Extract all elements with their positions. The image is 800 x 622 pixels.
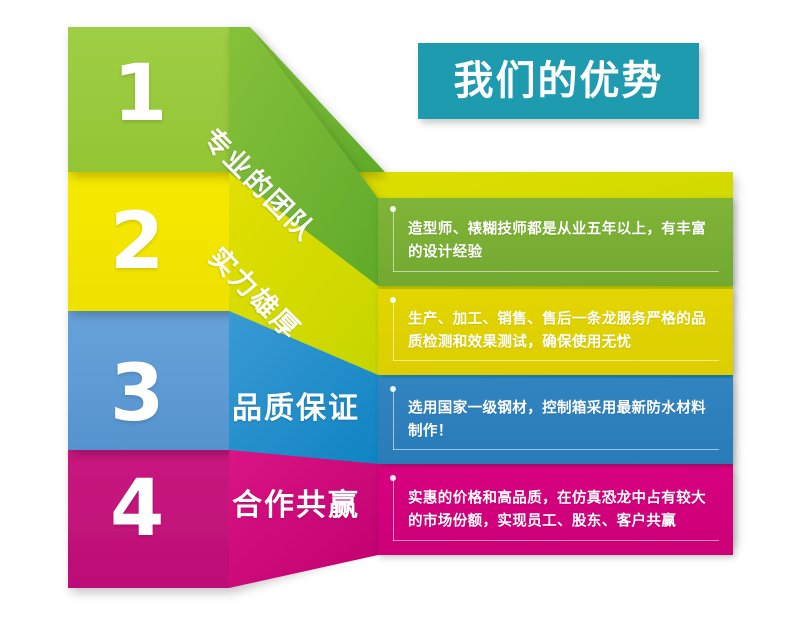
bar-caption-3: 品质保证 bbox=[232, 383, 360, 427]
bracket-foot-line bbox=[393, 271, 719, 272]
description-text: 生产、加工、销售、售后一条龙服务严格的品质检测和效果测试，确保使用无忧 bbox=[408, 309, 711, 356]
infographic-stage: 1 2 3 4 专业的团队 实力雄厚 品质保证 合作共赢 造型师、裱糊技师都是从… bbox=[0, 0, 800, 622]
description-panel-3: 选用国家一级钢材，控制箱采用最新防水材料制作！ bbox=[378, 378, 733, 464]
description-text: 造型师、裱糊技师都是从业五年以上，有丰富的设计经验 bbox=[408, 219, 711, 266]
bracket-foot-line bbox=[393, 360, 719, 361]
description-panel-2: 生产、加工、销售、售后一条龙服务严格的品质检测和效果测试，确保使用无忧 bbox=[378, 289, 733, 375]
bracket-line bbox=[393, 209, 394, 272]
page-title-box: 我们的优势 bbox=[418, 43, 699, 119]
bar-number-4: 4 bbox=[110, 470, 164, 548]
description-text: 选用国家一级钢材，控制箱采用最新防水材料制作！ bbox=[408, 398, 711, 445]
bracket-foot-line bbox=[393, 540, 719, 541]
description-text: 实惠的价格和高品质，在仿真恐龙中占有较大的市场份额，实现员工、股东、客户共赢 bbox=[408, 488, 711, 535]
description-panel-4: 实惠的价格和高品质，在仿真恐龙中占有较大的市场份额，实现员工、股东、客户共赢 bbox=[378, 467, 733, 555]
bar-caption-4: 合作共赢 bbox=[232, 480, 360, 524]
bracket-foot-line bbox=[393, 449, 719, 450]
bracket-line bbox=[393, 478, 394, 541]
bar-number-1: 1 bbox=[113, 55, 167, 133]
description-panel-1: 造型师、裱糊技师都是从业五年以上，有丰富的设计经验 bbox=[378, 198, 733, 286]
bar-number-2: 2 bbox=[110, 203, 164, 281]
page-title: 我们的优势 bbox=[454, 61, 664, 101]
bar-number-3: 3 bbox=[110, 355, 164, 433]
bracket-line bbox=[393, 389, 394, 450]
bracket-line bbox=[393, 300, 394, 361]
